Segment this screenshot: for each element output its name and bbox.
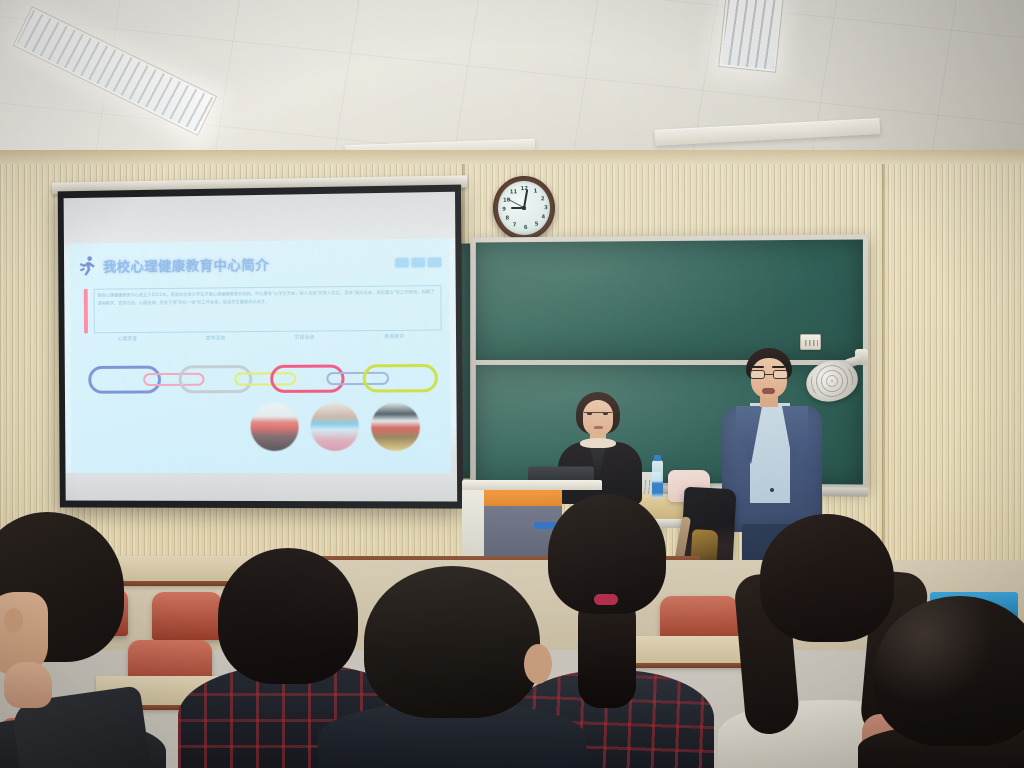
presenter-mouth	[594, 426, 603, 429]
speaker-glasses	[750, 370, 788, 379]
audience-1-hand	[4, 662, 52, 708]
presenter-face	[583, 400, 613, 436]
clock-numeral: 2	[539, 195, 547, 203]
presenter-glasses	[584, 412, 612, 418]
clock-numeral: 3	[542, 204, 550, 212]
wall-top-band	[0, 150, 1024, 164]
slide-body-text: 我校心理健康教育中心成立于2011年，是面向全体大学生开展心理健康教育的机构，中…	[97, 288, 437, 307]
running-person-icon	[76, 255, 98, 277]
slide-photo-counseling-room	[311, 403, 360, 451]
header-square-3	[428, 257, 441, 266]
slide-photo-group-activity	[371, 402, 420, 451]
audience-6-head	[874, 596, 1024, 746]
presentation-slide: 我校心理健康教育中心简介 我校心理健康教育中心成立于2011年，是面向全体大学生…	[70, 238, 451, 473]
paragraph-accent-bar	[84, 289, 88, 333]
audience-member-6	[868, 596, 1024, 768]
clock-numeral: 7	[510, 221, 518, 229]
slide-photo-lecture-hall	[251, 403, 299, 451]
clock-numeral: 5	[532, 220, 540, 228]
audience-member-4	[334, 566, 570, 768]
audience-4-ear	[524, 644, 552, 684]
clock-numeral: 9	[500, 206, 508, 214]
podium-top	[462, 480, 602, 490]
speaker-jacket-button	[770, 488, 774, 492]
classroom-photo: 12 1 2 3 4 5 6 7 8 9 10 11	[0, 0, 1024, 768]
screen-border: 我校心理健康教育中心简介 我校心理健康教育中心成立于2011年，是面向全体大学生…	[58, 185, 464, 509]
slide-header: 我校心理健康教育中心简介	[70, 238, 450, 289]
chain-link-yellow	[363, 364, 438, 393]
clock-center-pin	[522, 206, 525, 209]
slide-paragraph-block: 我校心理健康教育中心成立于2011年，是面向全体大学生开展心理健康教育的机构，中…	[84, 285, 442, 333]
clock-numeral: 8	[503, 214, 511, 222]
chain-label-row: 心理普查 宣传活动 实践活动 教育教学	[84, 333, 440, 356]
presenter-collar	[580, 438, 616, 448]
glasses-bridge	[765, 374, 773, 375]
projection-letterbox-top	[64, 192, 456, 244]
chain-label-4: 教育教学	[349, 333, 440, 355]
bottle-cap	[654, 455, 661, 461]
header-square-2	[412, 258, 425, 267]
slide-title: 我校心理健康教育中心简介	[103, 254, 269, 276]
speaker-mouth	[762, 388, 775, 394]
glasses-lens-right	[773, 370, 788, 379]
audience-3-hair-tie	[594, 594, 618, 605]
clock-face: 12 1 2 3 4 5 6 7 8 9 10 11	[497, 180, 551, 236]
projection-screen: 我校心理健康教育中心简介 我校心理健康教育中心成立于2011年，是面向全体大学生…	[58, 185, 464, 509]
audience-4-head	[364, 566, 540, 718]
projection-letterbox-bottom	[66, 473, 458, 501]
paragraph-box: 我校心理健康教育中心成立于2011年，是面向全体大学生开展心理健康教育的机构，中…	[93, 285, 441, 332]
audience-1-ear	[4, 608, 23, 633]
glasses-lens-left	[750, 370, 765, 379]
chain-label-1: 心理普查	[84, 335, 172, 356]
slide-photo-row	[71, 401, 451, 469]
clock-numeral: 11	[509, 188, 517, 196]
audience-member-1	[0, 512, 186, 768]
water-bottle	[652, 460, 663, 498]
chain-label-3: 实践活动	[260, 334, 350, 356]
chain-label-2: 宣传活动	[171, 335, 260, 357]
slide-header-squares	[395, 257, 441, 267]
clock-numeral: 6	[522, 224, 530, 232]
screen-surface: 我校心理健康教育中心简介 我校心理健康教育中心成立于2011年，是面向全体大学生…	[64, 192, 458, 502]
header-square-1	[395, 258, 408, 267]
chain-diagram	[82, 354, 440, 402]
